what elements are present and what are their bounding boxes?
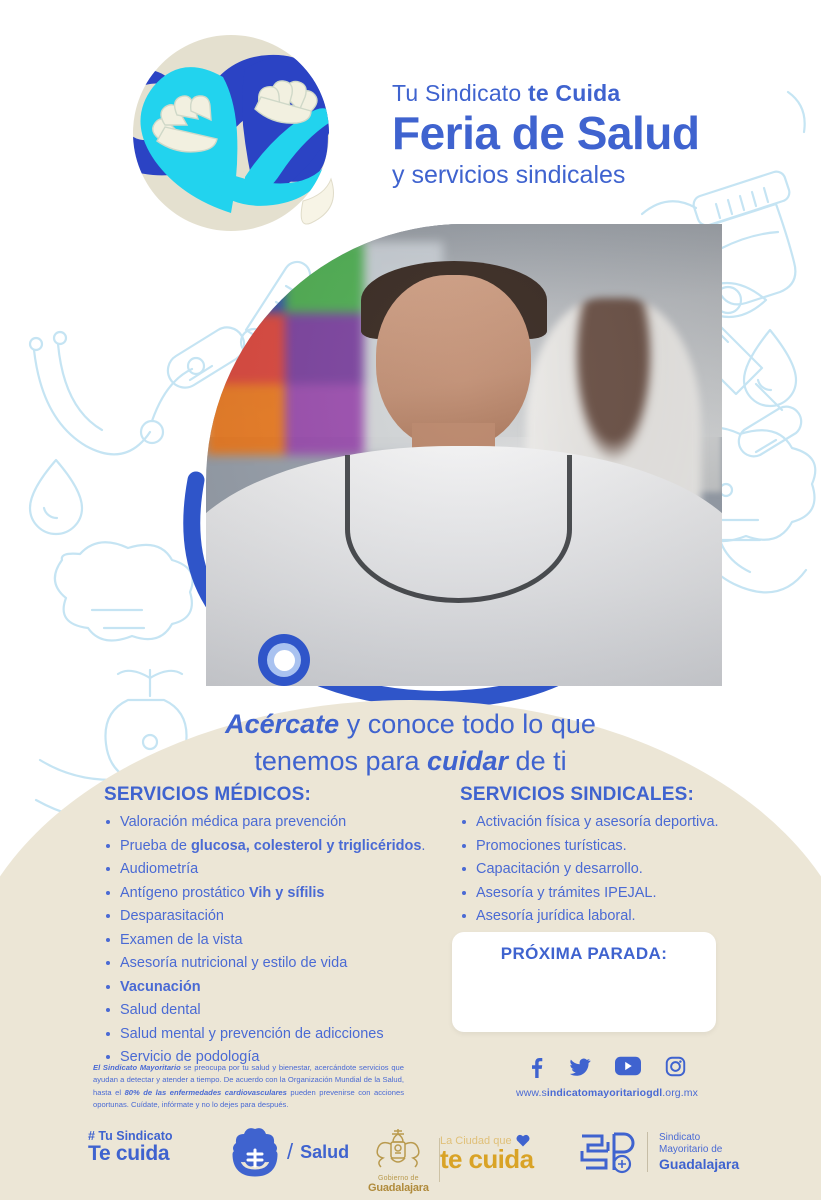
- services-union-column: SERVICIOS SINDICALES: Activación física …: [460, 784, 760, 933]
- list-item-emphasis: glucosa, colesterol y triglicéridos: [191, 838, 421, 854]
- doctor-heart-hands-photo: [206, 224, 722, 686]
- social-icons-row: [497, 1056, 717, 1078]
- footer-divider-2: [647, 1132, 648, 1172]
- poster-header: Tu Sindicato te Cuida Feria de Salud y s…: [0, 0, 821, 240]
- website-prefix: www.s: [516, 1087, 547, 1099]
- disclaimer-bold-2: 80% de las enfermedades cardiovasculares: [125, 1088, 287, 1097]
- sp-line1: Sindicato: [659, 1132, 739, 1144]
- facebook-icon[interactable]: [528, 1056, 545, 1078]
- salud-flower-icon: [230, 1126, 280, 1178]
- tagline-part5: de ti: [508, 746, 567, 776]
- list-item-label: Prueba de: [120, 838, 191, 854]
- services-union-heading: SERVICIOS SINDICALES:: [460, 784, 760, 806]
- next-stop-title: PRÓXIMA PARADA:: [452, 932, 716, 964]
- title-eyebrow-bold: te Cuida: [528, 80, 620, 106]
- list-item-label: Promociones turísticas.: [476, 838, 627, 854]
- tagline-part1: Acércate: [225, 709, 339, 739]
- list-item-label: Audiometría: [120, 861, 198, 877]
- hands-heart-sticker-logo: [127, 33, 345, 237]
- logo-la-ciudad-que-te-cuida: La Ciudad que te cuida: [440, 1134, 533, 1172]
- disclaimer-text: El Sindicato Mayoritario se preocupa por…: [93, 1062, 404, 1111]
- list-item-emphasis: Vih y sífilis: [249, 885, 325, 901]
- footer-logo-bar: # Tu Sindicato Te cuida / Salud: [0, 1120, 821, 1192]
- list-item-label: Examen de la vista: [120, 932, 243, 948]
- logo-sindicato-mayoritario: Sindicato Mayoritario de Guadalajara: [578, 1128, 739, 1176]
- poster-root: Tu Sindicato te Cuida Feria de Salud y s…: [0, 0, 821, 1200]
- website-url[interactable]: www.sindicatomayoritariogdl.org.mx: [497, 1087, 717, 1099]
- instagram-icon[interactable]: [665, 1056, 686, 1078]
- list-item: Capacitación y desarrollo.: [460, 862, 760, 886]
- disclaimer-bold-1: El Sindicato Mayoritario: [93, 1063, 181, 1072]
- list-item: Salud dental: [104, 1003, 454, 1027]
- services-medical-column: SERVICIOS MÉDICOS: Valoración médica par…: [104, 784, 454, 1074]
- tagline-part4: cuidar: [427, 746, 508, 776]
- list-item: Examen de la vista: [104, 933, 454, 957]
- page-subtitle: y servicios sindicales: [392, 161, 792, 190]
- list-item: Asesoría nutricional y estilo de vida: [104, 956, 454, 980]
- logo-gobierno-guadalajara: Gobierno de Guadalajara: [368, 1126, 440, 1194]
- tagline-part2: y conoce todo lo que: [339, 709, 596, 739]
- hero-photo-container: [206, 224, 722, 686]
- salud-label: Salud: [300, 1142, 349, 1163]
- list-item-label: Vacunación: [120, 979, 201, 995]
- website-bold: indicatomayoritariogdl: [547, 1087, 662, 1099]
- list-item-label: Asesoría jurídica laboral.: [476, 908, 636, 924]
- logo-salud: / Salud: [230, 1126, 349, 1178]
- gobierno-line2: Guadalajara: [368, 1182, 429, 1194]
- logo-tu-sindicato-te-cuida: # Tu Sindicato Te cuida: [88, 1130, 173, 1165]
- website-suffix: .org.mx: [662, 1087, 698, 1099]
- list-item-label: Salud dental: [120, 1002, 201, 1018]
- list-item: Activación física y asesoría deportiva.: [460, 815, 760, 839]
- tagline-part3: tenemos para: [254, 746, 427, 776]
- list-item-label: Salud mental y prevención de adicciones: [120, 1026, 384, 1042]
- guadalajara-coat-of-arms-icon: [375, 1126, 421, 1170]
- list-item-label: Capacitación y desarrollo.: [476, 861, 643, 877]
- list-item-label: Asesoría y trámites IPEJAL.: [476, 885, 657, 901]
- list-item-label: Desparasitación: [120, 908, 224, 924]
- list-item: Asesoría jurídica laboral.: [460, 909, 760, 933]
- list-item-label-suffix: .: [421, 838, 425, 854]
- list-item-label: Antígeno prostático: [120, 885, 249, 901]
- list-item: Promociones turísticas.: [460, 839, 760, 863]
- list-item: Valoración médica para prevención: [104, 815, 454, 839]
- title-eyebrow: Tu Sindicato te Cuida: [392, 80, 792, 107]
- list-item-label: Asesoría nutricional y estilo de vida: [120, 955, 347, 971]
- list-item: Antígeno prostático Vih y sífilis: [104, 886, 454, 910]
- list-item: Prueba de glucosa, colesterol y triglicé…: [104, 839, 454, 863]
- list-item: Audiometría: [104, 862, 454, 886]
- list-item: Asesoría y trámites IPEJAL.: [460, 886, 760, 910]
- title-eyebrow-plain: Tu Sindicato: [392, 80, 528, 106]
- twitter-icon[interactable]: [569, 1056, 591, 1078]
- tu-sindicato-tagline-line2: Te cuida: [88, 1143, 173, 1165]
- tagline: Acércate y conoce todo lo que tenemos pa…: [0, 706, 821, 779]
- youtube-icon[interactable]: [615, 1056, 641, 1078]
- page-title: Feria de Salud: [392, 109, 792, 158]
- next-stop-card[interactable]: PRÓXIMA PARADA:: [452, 932, 716, 1032]
- sp-line3: Guadalajara: [659, 1156, 739, 1173]
- list-item: Salud mental y prevención de adicciones: [104, 1027, 454, 1051]
- gobierno-line1: Gobierno de: [368, 1175, 429, 1182]
- blue-ring-accent: [258, 634, 310, 686]
- social-section: www.sindicatomayoritariogdl.org.mx: [497, 1056, 717, 1099]
- sp-line2: Mayoritario de: [659, 1144, 739, 1156]
- list-item-label: Activación física y asesoría deportiva.: [476, 814, 719, 830]
- ciudad-line2: te cuida: [440, 1147, 533, 1172]
- services-medical-heading: SERVICIOS MÉDICOS:: [104, 784, 454, 806]
- services-union-list: Activación física y asesoría deportiva.P…: [460, 815, 760, 933]
- salud-slash: /: [287, 1139, 293, 1165]
- list-item: Vacunación: [104, 980, 454, 1004]
- list-item-label: Valoración médica para prevención: [120, 814, 346, 830]
- sp-monogram-icon: [578, 1128, 636, 1176]
- services-medical-list: Valoración médica para prevenciónPrueba …: [104, 815, 454, 1074]
- list-item: Desparasitación: [104, 909, 454, 933]
- title-block: Tu Sindicato te Cuida Feria de Salud y s…: [392, 80, 792, 190]
